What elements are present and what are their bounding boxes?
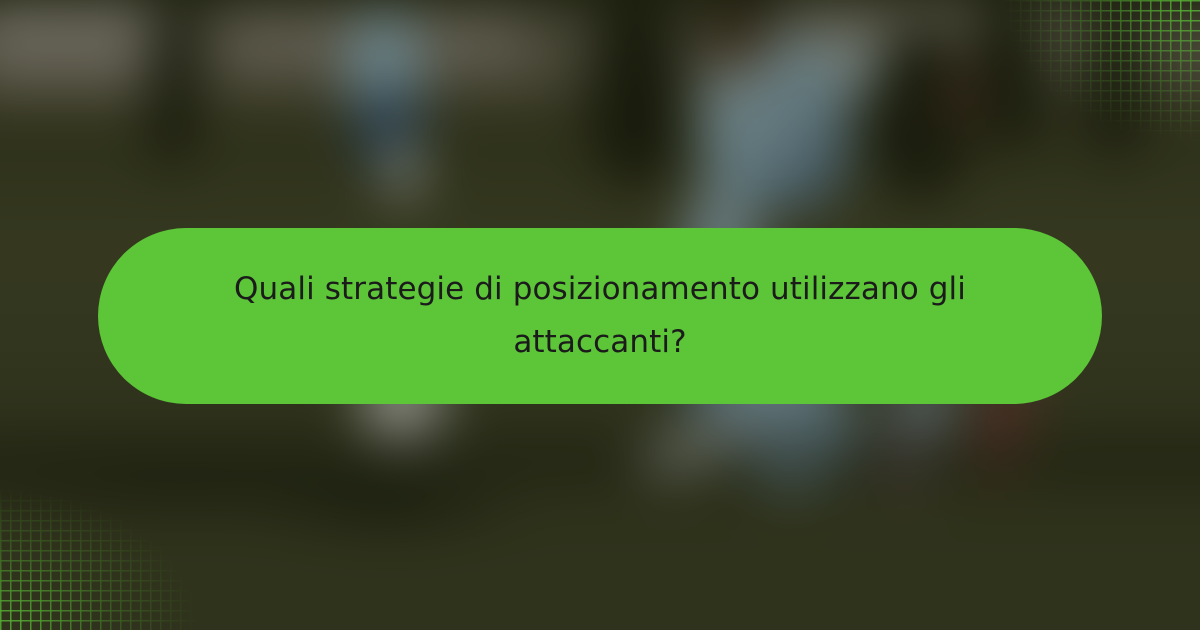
dot-grid-pattern-bottom-left	[0, 480, 230, 630]
dot-grid-pattern-top-right	[970, 0, 1200, 150]
headline-pill: Quali strategie di posizionamento utiliz…	[98, 228, 1102, 404]
page-title: Quali strategie di posizionamento utiliz…	[220, 263, 980, 370]
social-card: Quali strategie di posizionamento utiliz…	[0, 0, 1200, 630]
